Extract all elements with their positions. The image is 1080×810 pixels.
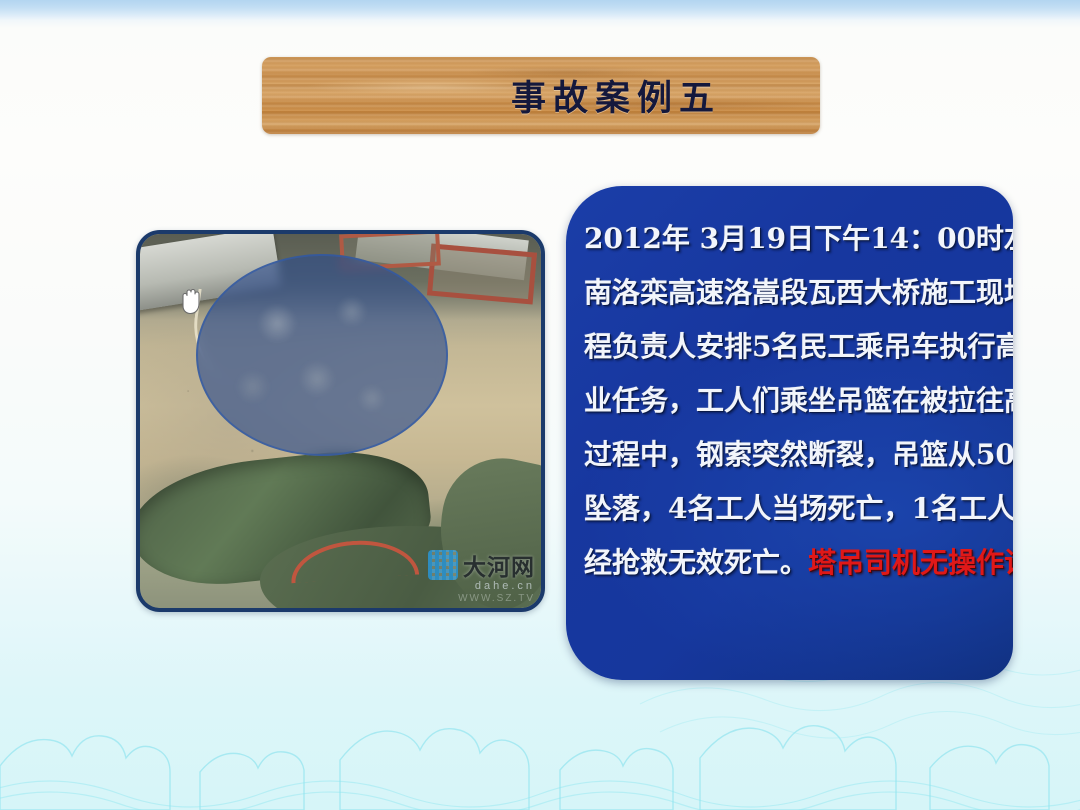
photo-content: 大河网 dahe.cn WWW.SZ.TV bbox=[140, 234, 541, 608]
description-line: 程负责人安排5名民工乘吊车执行高空作 bbox=[584, 320, 995, 374]
title-banner: 事故案例五 bbox=[262, 57, 820, 134]
line-text: 程负责人安排5名民工乘吊车执行高空作 bbox=[584, 330, 1013, 363]
description-line: 坠落，4名工人当场死亡，1名工人送院后 bbox=[584, 482, 995, 536]
page-title: 事故案例五 bbox=[511, 70, 721, 121]
open-hand-cursor bbox=[179, 286, 205, 316]
photo-red-frame bbox=[427, 243, 537, 304]
slide-canvas: 事故案例五 大河网 dahe. bbox=[0, 0, 1080, 810]
description-lines: 2012年 3月19日下午14：00时左右，在河 南洛栾高速洛嵩段瓦西大桥施工现… bbox=[584, 212, 995, 670]
line-text: 过程中，钢索突然断裂，吊篮从50米高空 bbox=[584, 438, 1013, 471]
accident-photo[interactable]: 大河网 dahe.cn WWW.SZ.TV bbox=[136, 230, 545, 612]
line-text-red: 塔吊司机无操作证。 bbox=[808, 546, 1013, 579]
description-line: 经抢救无效死亡。塔吊司机无操作证。 bbox=[584, 536, 995, 590]
description-line: 业任务，工人们乘坐吊篮在被拉往高空的 bbox=[584, 374, 995, 428]
line-text: 业任务，工人们乘坐吊篮在被拉往高空的 bbox=[584, 384, 1013, 417]
description-panel: 2012年 3月19日下午14：00时左右，在河 南洛栾高速洛嵩段瓦西大桥施工现… bbox=[566, 186, 1013, 680]
line-text: 2012年 3月19日下午14：00时左右，在河 bbox=[584, 222, 1013, 255]
description-line: 过程中，钢索突然断裂，吊篮从50米高空 bbox=[584, 428, 995, 482]
line-text: 坠落，4名工人当场死亡，1名工人送院后 bbox=[584, 492, 1013, 525]
description-line: 南洛栾高速洛嵩段瓦西大桥施工现场，工 bbox=[584, 266, 995, 320]
line-text: 经抢救无效死亡。 bbox=[584, 546, 808, 579]
line-text: 南洛栾高速洛嵩段瓦西大桥施工现场，工 bbox=[584, 276, 1013, 309]
censor-ellipse bbox=[196, 254, 448, 456]
top-light-band bbox=[0, 0, 1080, 20]
description-line: 2012年 3月19日下午14：00时左右，在河 bbox=[584, 212, 995, 266]
censor-blur-layer bbox=[198, 256, 446, 454]
